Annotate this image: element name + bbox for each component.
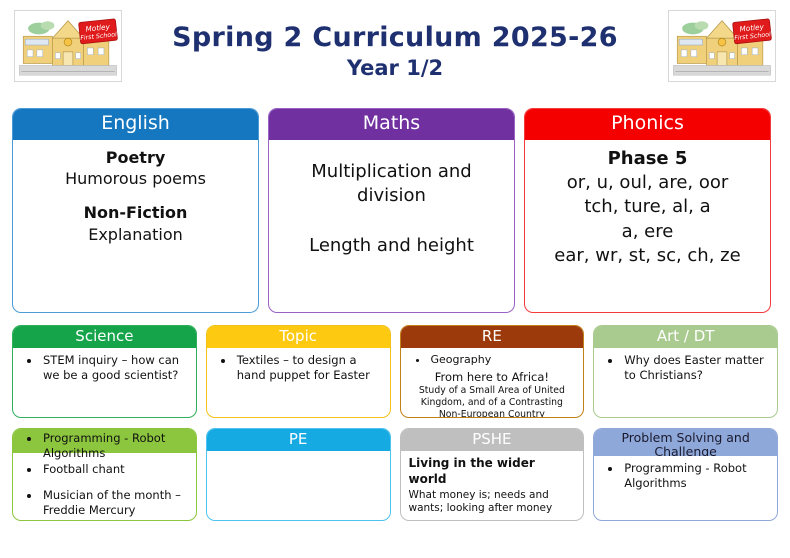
- school-logo-left: Motley First School: [14, 10, 122, 82]
- card-problem-solving[interactable]: Problem Solving and Challenge Programmin…: [593, 428, 778, 521]
- card-english-body: Poetry Humorous poems Non-Fiction Explan…: [13, 140, 258, 312]
- subject-row-top: English Poetry Humorous poems Non-Fictio…: [0, 108, 790, 313]
- list-item: STEM inquiry – how can we be a good scie…: [41, 353, 188, 383]
- card-phonics-header: Phonics: [525, 109, 770, 140]
- english-unit-1-detail: Humorous poems: [23, 168, 248, 189]
- school-building-illustration: Motley First School: [669, 11, 775, 81]
- card-science[interactable]: Science STEM inquiry – how can we be a g…: [12, 325, 197, 418]
- card-pshe[interactable]: PSHE Living in the wider world What mone…: [400, 428, 585, 521]
- subject-row-middle: Science STEM inquiry – how can we be a g…: [0, 325, 790, 418]
- card-topic-header: Topic: [207, 326, 390, 348]
- list-spacer: [41, 478, 188, 487]
- english-unit-2-detail: Explanation: [23, 224, 248, 245]
- card-pe-header: PE: [207, 429, 390, 451]
- art-dt-bullet-list: Why does Easter matter to Christians?: [602, 353, 769, 383]
- title-block: Spring 2 Curriculum 2025-26 Year 1/2: [122, 10, 668, 82]
- science-bullet-list: STEM inquiry – how can we be a good scie…: [21, 353, 188, 383]
- card-re-header: RE: [401, 326, 584, 348]
- card-maths[interactable]: Maths Multiplication and division Length…: [268, 108, 515, 313]
- school-building-illustration: Motley First School: [15, 11, 121, 81]
- phonics-sounds-4: ear, wr, st, sc, ch, ze: [535, 244, 760, 268]
- card-phonics[interactable]: Phonics Phase 5 or, u, oul, are, oor tch…: [524, 108, 771, 313]
- maths-unit-1b: division: [279, 184, 504, 208]
- list-item: Why does Easter matter to Christians?: [622, 353, 769, 383]
- re-topic-detail: Study of a Small Area of United Kingdom,…: [409, 385, 576, 417]
- computing-music-bullet-list: Programming - Robot Algorithms Football …: [21, 431, 188, 518]
- topic-bullet-list: Textiles – to design a hand puppet for E…: [215, 353, 382, 383]
- phonics-sounds-2: tch, ture, al, a: [535, 195, 760, 219]
- card-pe-body: [207, 451, 390, 520]
- card-maths-body: Multiplication and division Length and h…: [269, 140, 514, 312]
- phonics-sounds-1: or, u, oul, are, oor: [535, 171, 760, 195]
- list-item: Musician of the month – Freddie Mercury: [41, 488, 188, 518]
- pshe-subtitle: Living in the wider world: [409, 456, 576, 488]
- phonics-phase: Phase 5: [535, 147, 760, 171]
- card-art-dt-body: Why does Easter matter to Christians?: [594, 348, 777, 417]
- page-title: Spring 2 Curriculum 2025-26: [122, 22, 668, 53]
- pshe-detail: What money is; needs and wants; looking …: [409, 489, 576, 516]
- card-pshe-header: PSHE: [401, 429, 584, 451]
- problem-solving-bullet-list: Programming - Robot Algorithms: [602, 461, 769, 491]
- card-pe[interactable]: PE: [206, 428, 391, 521]
- card-science-body: STEM inquiry – how can we be a good scie…: [13, 348, 196, 417]
- card-art-dt[interactable]: Art / DT Why does Easter matter to Chris…: [593, 325, 778, 418]
- card-pshe-body: Living in the wider world What money is;…: [401, 451, 584, 520]
- card-phonics-body: Phase 5 or, u, oul, are, oor tch, ture, …: [525, 140, 770, 312]
- english-unit-1: Poetry: [23, 147, 248, 168]
- re-topic-title: From here to Africa!: [409, 370, 576, 385]
- card-re-body: Geography From here to Africa! Study of …: [401, 348, 584, 417]
- page-header: Motley First School Spring 2 Curriculum …: [0, 0, 790, 104]
- card-art-dt-header: Art / DT: [594, 326, 777, 348]
- page-subtitle: Year 1/2: [122, 55, 668, 82]
- card-science-header: Science: [13, 326, 196, 348]
- card-english[interactable]: English Poetry Humorous poems Non-Fictio…: [12, 108, 259, 313]
- school-logo-right: Motley First School: [668, 10, 776, 82]
- list-item: Football chant: [41, 462, 188, 477]
- english-unit-2: Non-Fiction: [23, 202, 248, 223]
- phonics-sounds-3: a, ere: [535, 220, 760, 244]
- card-topic-body: Textiles – to design a hand puppet for E…: [207, 348, 390, 417]
- list-item: Geography: [429, 353, 576, 368]
- card-problem-solving-body: Programming - Robot Algorithms: [594, 456, 777, 520]
- subject-row-bottom: Programming - Robot Algorithms Football …: [0, 428, 790, 521]
- maths-unit-2: Length and height: [279, 234, 504, 258]
- card-problem-solving-header: Problem Solving and Challenge: [594, 429, 777, 456]
- card-topic[interactable]: Topic Textiles – to design a hand puppet…: [206, 325, 391, 418]
- card-re[interactable]: RE Geography From here to Africa! Study …: [400, 325, 585, 418]
- card-computing-music-body: Programming - Robot Algorithms Football …: [13, 431, 196, 520]
- card-english-header: English: [13, 109, 258, 140]
- re-bullet-list: Geography: [409, 353, 576, 368]
- list-item: Programming - Robot Algorithms: [41, 431, 188, 461]
- list-item: Textiles – to design a hand puppet for E…: [235, 353, 382, 383]
- list-item: Programming - Robot Algorithms: [622, 461, 769, 491]
- card-computing-music[interactable]: Programming - Robot Algorithms Football …: [12, 428, 197, 521]
- card-maths-header: Maths: [269, 109, 514, 140]
- maths-unit-1a: Multiplication and: [279, 160, 504, 184]
